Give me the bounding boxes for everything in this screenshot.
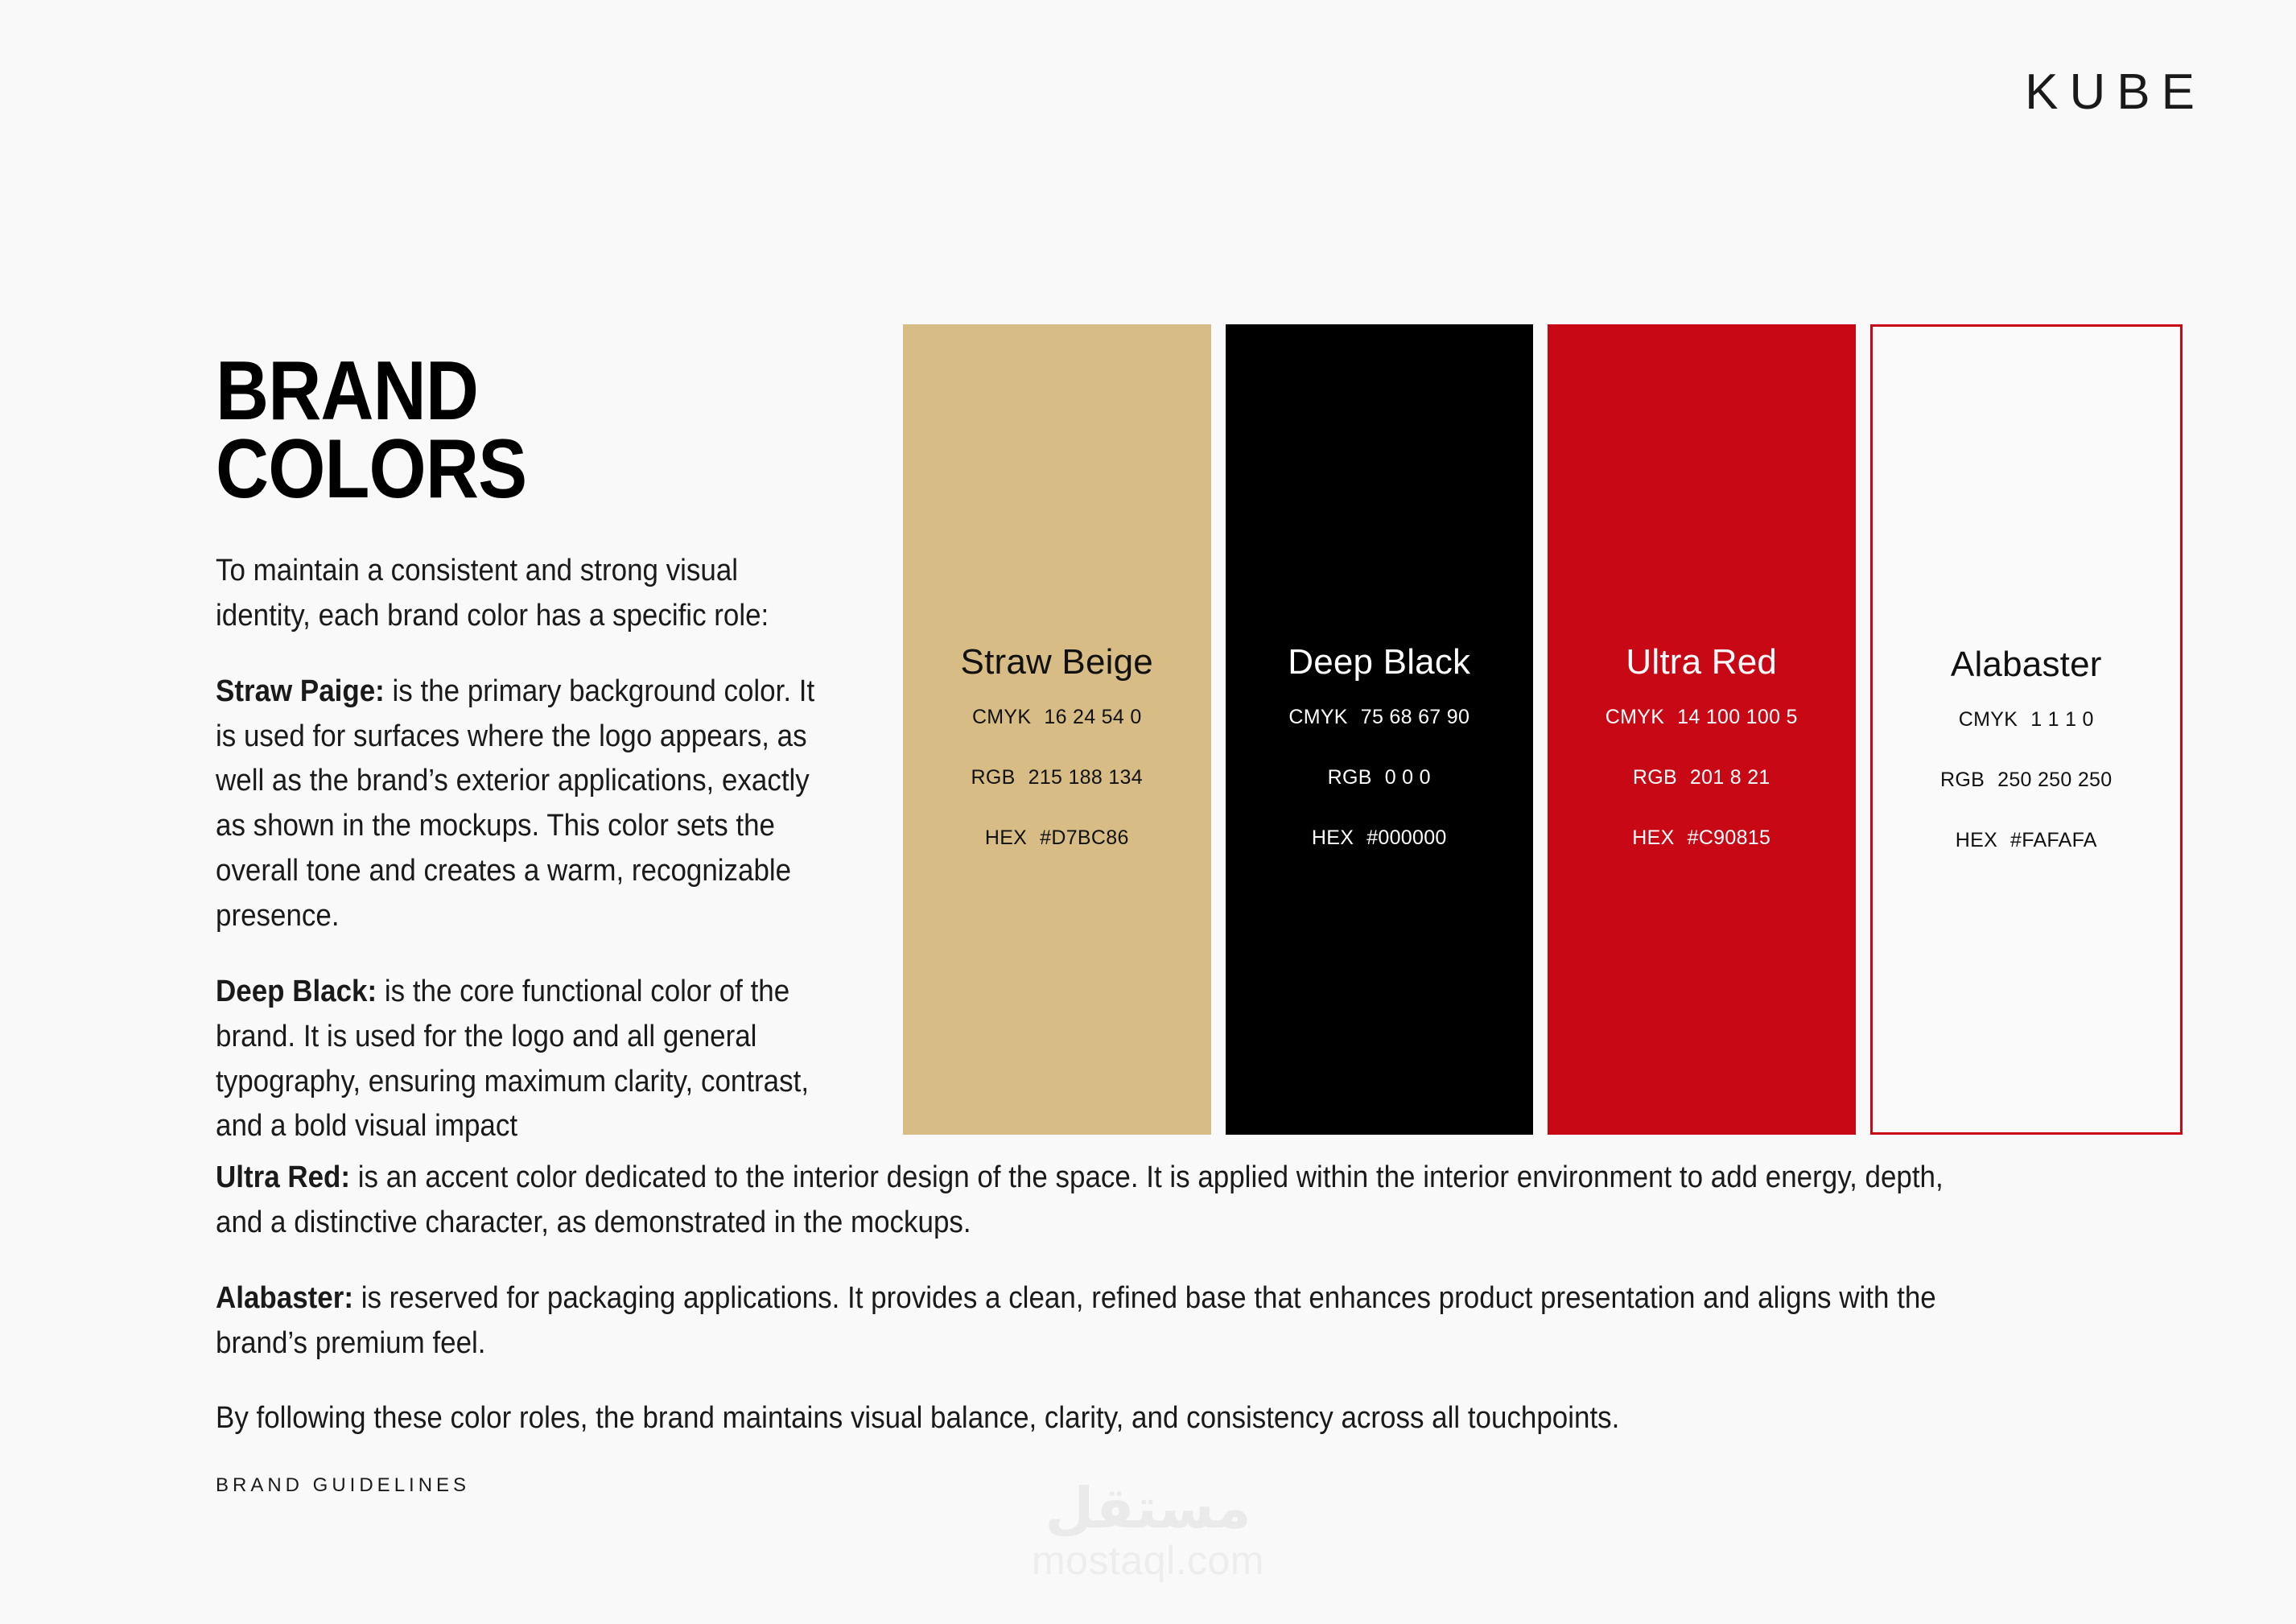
swatch-name: Deep Black bbox=[1288, 645, 1470, 680]
ultra-red-paragraph: Ultra Red: is an accent color dedicated … bbox=[216, 1156, 1956, 1246]
closing-paragraph: By following these color roles, the bran… bbox=[216, 1396, 1956, 1441]
color-swatch-row: Straw Beige CMYK16 24 54 0 RGB215 188 13… bbox=[903, 324, 2183, 1135]
watermark-arabic-text: مستقل bbox=[1045, 1479, 1251, 1539]
swatch-cmyk-label: CMYK bbox=[972, 706, 1031, 728]
swatch-cmyk-row: CMYK75 68 67 90 bbox=[1288, 707, 1470, 728]
swatch-values: CMYK14 100 100 5 RGB201 8 21 HEX#C90815 bbox=[1548, 707, 1856, 848]
page-title-line-1: BRAND bbox=[216, 352, 853, 431]
swatch-rgb-value: 250 250 250 bbox=[1997, 769, 2112, 791]
swatch-rgb-label: RGB bbox=[1940, 769, 1985, 791]
watermark-domain-text: mostaql.com bbox=[1032, 1539, 1264, 1583]
footer-label: BRAND GUIDELINES bbox=[216, 1474, 470, 1497]
alabaster-term: Alabaster: bbox=[216, 1281, 353, 1315]
swatch-hex-value: #FAFAFA bbox=[2010, 829, 2097, 851]
swatch-rgb-value: 215 188 134 bbox=[1028, 766, 1143, 789]
swatch-name: Straw Beige bbox=[961, 645, 1153, 680]
page-title-line-2: COLORS bbox=[216, 431, 853, 509]
swatch-rgb-row: RGB215 188 134 bbox=[971, 768, 1143, 788]
swatch-hex-label: HEX bbox=[985, 826, 1027, 849]
alabaster-paragraph: Alabaster: is reserved for packaging app… bbox=[216, 1276, 1956, 1366]
straw-beige-term: Straw Paige: bbox=[216, 674, 385, 708]
swatch-hex-row: HEX#D7BC86 bbox=[985, 828, 1129, 848]
swatch-deep-black: Deep Black CMYK75 68 67 90 RGB0 0 0 HEX#… bbox=[1226, 324, 1534, 1135]
swatch-hex-row: HEX#FAFAFA bbox=[1956, 831, 2097, 851]
swatch-cmyk-value: 16 24 54 0 bbox=[1044, 706, 1141, 728]
swatch-rgb-label: RGB bbox=[1633, 766, 1677, 789]
swatch-cmyk-row: CMYK16 24 54 0 bbox=[972, 707, 1142, 728]
swatch-rgb-label: RGB bbox=[971, 766, 1016, 789]
swatch-cmyk-value: 1 1 1 0 bbox=[2030, 708, 2094, 731]
brand-wordmark: KUBE bbox=[2025, 68, 2206, 117]
swatch-hex-label: HEX bbox=[1956, 829, 1997, 851]
swatch-hex-label: HEX bbox=[1312, 826, 1354, 849]
swatch-hex-value: #C90815 bbox=[1688, 826, 1771, 849]
swatch-hex-value: #D7BC86 bbox=[1040, 826, 1129, 849]
wide-description-column: Ultra Red: is an accent color dedicated … bbox=[216, 1156, 1956, 1441]
swatch-cmyk-row: CMYK14 100 100 5 bbox=[1606, 707, 1798, 728]
swatch-cmyk-row: CMYK1 1 1 0 bbox=[1959, 710, 2094, 730]
swatch-alabaster: Alabaster CMYK1 1 1 0 RGB250 250 250 HEX… bbox=[1870, 324, 2183, 1135]
page-title: BRAND COLORS bbox=[216, 352, 853, 510]
swatch-rgb-row: RGB201 8 21 bbox=[1633, 768, 1770, 788]
swatch-name: Ultra Red bbox=[1626, 645, 1777, 680]
swatch-cmyk-value: 14 100 100 5 bbox=[1677, 706, 1798, 728]
straw-beige-body: is the primary background color. It is u… bbox=[216, 674, 814, 933]
ultra-red-body: is an accent color dedicated to the inte… bbox=[216, 1160, 1944, 1239]
deep-black-paragraph: Deep Black: is the core functional color… bbox=[216, 970, 822, 1149]
ultra-red-term: Ultra Red: bbox=[216, 1160, 350, 1194]
swatch-hex-row: HEX#C90815 bbox=[1632, 828, 1770, 848]
swatch-cmyk-label: CMYK bbox=[1959, 708, 2018, 731]
swatch-name: Alabaster bbox=[1951, 647, 2102, 682]
swatch-cmyk-label: CMYK bbox=[1288, 706, 1347, 728]
deep-black-term: Deep Black: bbox=[216, 975, 377, 1008]
left-description-column: To maintain a consistent and strong visu… bbox=[216, 549, 822, 1149]
swatch-cmyk-label: CMYK bbox=[1606, 706, 1664, 728]
swatch-hex-label: HEX bbox=[1632, 826, 1674, 849]
straw-beige-paragraph: Straw Paige: is the primary background c… bbox=[216, 670, 822, 939]
swatch-hex-value: #000000 bbox=[1366, 826, 1446, 849]
swatch-rgb-value: 0 0 0 bbox=[1385, 766, 1431, 789]
swatch-values: CMYK75 68 67 90 RGB0 0 0 HEX#000000 bbox=[1226, 707, 1534, 848]
swatch-values: CMYK16 24 54 0 RGB215 188 134 HEX#D7BC86 bbox=[903, 707, 1211, 848]
swatch-hex-row: HEX#000000 bbox=[1312, 828, 1447, 848]
intro-paragraph: To maintain a consistent and strong visu… bbox=[216, 549, 822, 639]
swatch-rgb-label: RGB bbox=[1328, 766, 1372, 789]
swatch-rgb-value: 201 8 21 bbox=[1690, 766, 1770, 789]
swatch-ultra-red: Ultra Red CMYK14 100 100 5 RGB201 8 21 H… bbox=[1548, 324, 1856, 1135]
swatch-cmyk-value: 75 68 67 90 bbox=[1361, 706, 1470, 728]
swatch-rgb-row: RGB0 0 0 bbox=[1328, 768, 1431, 788]
alabaster-body: is reserved for packaging applications. … bbox=[216, 1281, 1936, 1360]
swatch-values: CMYK1 1 1 0 RGB250 250 250 HEX#FAFAFA bbox=[1873, 710, 2181, 851]
swatch-straw-beige: Straw Beige CMYK16 24 54 0 RGB215 188 13… bbox=[903, 324, 1211, 1135]
swatch-rgb-row: RGB250 250 250 bbox=[1940, 770, 2112, 790]
